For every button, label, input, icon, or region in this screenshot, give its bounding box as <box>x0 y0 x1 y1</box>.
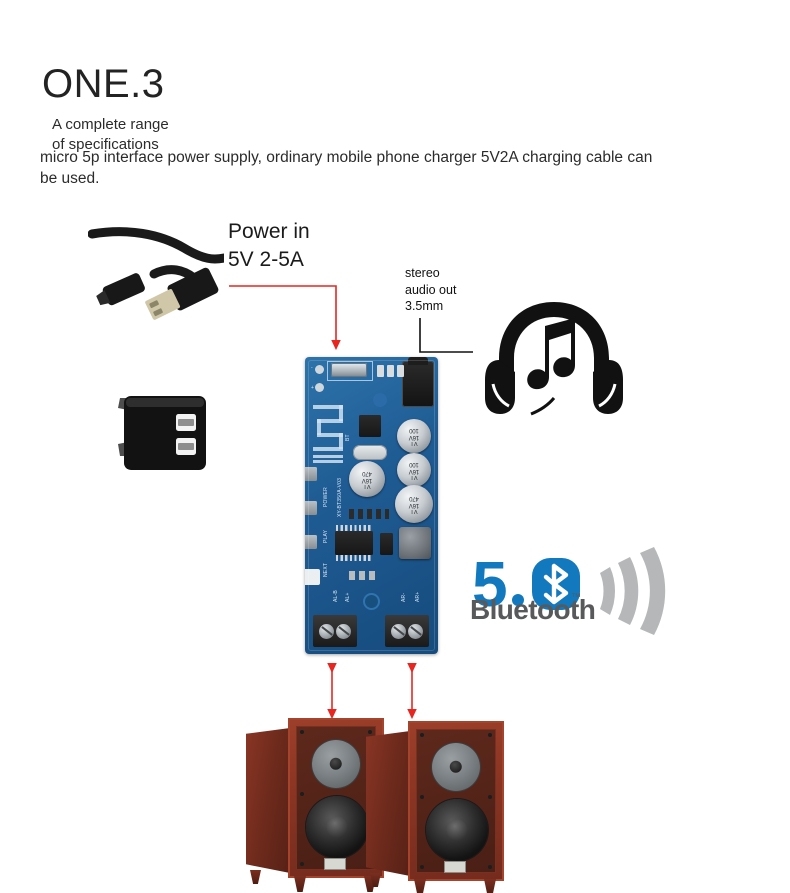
silk-label-ar-plus: AR+ <box>415 592 421 602</box>
trademark-symbol: ™ <box>571 592 581 603</box>
amplifier-ic-pins-bottom <box>336 555 372 561</box>
label-power-in: Power in 5V 2-5A <box>228 218 310 273</box>
capacitor-470uf-right: VT16V470 <box>395 485 433 523</box>
screw-terminal-left[interactable] <box>313 615 357 647</box>
switch-next[interactable] <box>305 535 317 549</box>
arrow-power-in <box>229 286 336 345</box>
silk-label-v-plus: + <box>311 385 314 391</box>
screw-terminal-right-a[interactable] <box>391 624 406 639</box>
usb-wall-charger-image <box>104 386 214 484</box>
jack-top-cap <box>408 357 428 365</box>
bluetooth-amplifier-board: VT16V470 VT16V100 VT16V100 VT16V470 B <box>305 357 438 654</box>
screw-terminal-right-b[interactable] <box>408 624 423 639</box>
page-title: ONE.3 <box>42 64 165 104</box>
screw-terminal-left-b[interactable] <box>336 624 351 639</box>
passive-cap-b <box>387 365 394 377</box>
micro-usb-port[interactable] <box>331 363 367 377</box>
switch-play[interactable] <box>305 501 317 515</box>
regulator-transistor <box>380 533 393 555</box>
via-pad-center <box>373 393 387 407</box>
capacitor-100uf-top-right: VT16V100 <box>397 419 431 453</box>
resistor-row-lower <box>349 571 379 580</box>
silk-label-board-id: XY-BT350A-V03 <box>337 478 343 517</box>
switch-power[interactable] <box>305 467 317 481</box>
silk-label-ar-minus: AR- <box>401 593 407 602</box>
silk-label-power: POWER <box>323 487 329 507</box>
white-connector[interactable] <box>305 569 320 585</box>
amplifier-ic <box>335 531 373 555</box>
silk-label-al-plus: AL+ <box>345 592 351 602</box>
page-description: micro 5p interface power supply, ordinar… <box>40 147 660 189</box>
amplifier-ic-pins-top <box>336 525 372 531</box>
solder-pad-negative <box>315 365 324 374</box>
silk-label-play: PLAY <box>323 530 329 543</box>
capacitor-100uf-mid-right: VT16V100 <box>397 453 431 487</box>
crystal-oscillator <box>353 445 387 460</box>
silk-label-next: NEXT <box>323 563 329 577</box>
power-inductor <box>399 527 431 559</box>
usb-cable-image <box>88 218 224 330</box>
stereo-audio-jack[interactable] <box>402 361 434 407</box>
screw-terminal-left-a[interactable] <box>319 624 334 639</box>
resistor-array <box>349 509 389 519</box>
diagram-canvas: ONE.3 A complete range of specifications… <box>0 0 790 893</box>
capacitor-470uf-left: VT16V470 <box>349 461 385 497</box>
speaker-left <box>246 718 384 893</box>
leader-stereo-out <box>420 318 473 352</box>
mounting-hole <box>365 595 378 608</box>
wireless-signal-waves-icon <box>594 545 672 637</box>
solder-pad-positive <box>315 383 324 392</box>
silk-label-al-minus: AL-B <box>333 590 339 602</box>
usb-silk-outline <box>327 361 373 381</box>
screw-terminal-right[interactable] <box>385 615 429 647</box>
silk-label-bt: BT <box>345 434 351 441</box>
label-stereo-out: stereo audio out 3.5mm <box>405 265 456 315</box>
passive-cap-a <box>377 365 384 377</box>
pcb-antenna-trace <box>313 405 345 463</box>
headphones-icon <box>483 298 625 416</box>
bookshelf-speaker-pair <box>246 718 504 893</box>
speaker-right <box>366 721 504 893</box>
silk-label-v-minus: - <box>311 365 313 371</box>
passive-cap-c <box>397 365 404 377</box>
bluetooth-soc-chip <box>359 415 381 437</box>
pcb-substrate: VT16V470 VT16V100 VT16V100 VT16V470 B <box>305 357 438 654</box>
